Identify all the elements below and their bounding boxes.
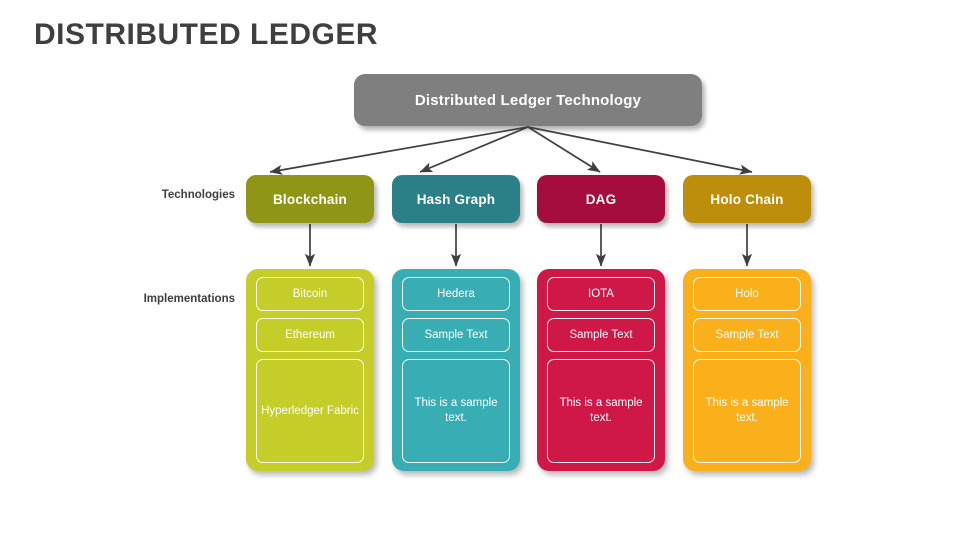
root-node-label: Distributed Ledger Technology	[415, 92, 641, 109]
fan-arrow	[420, 127, 528, 172]
impl-item[interactable]: Sample Text	[547, 318, 655, 352]
fan-arrow	[528, 127, 752, 172]
impl-panel-hash-graph: HederaSample TextThis is a sample text.	[392, 269, 520, 471]
tech-box-holo-chain[interactable]: Holo Chain	[683, 175, 811, 223]
impl-item[interactable]: Hedera	[402, 277, 510, 311]
impl-item[interactable]: This is a sample text.	[693, 359, 801, 463]
impl-panel-blockchain: BitcoinEthereumHyperledger Fabric	[246, 269, 374, 471]
tech-box-dag[interactable]: DAG	[537, 175, 665, 223]
impl-panel-dag: IOTASample TextThis is a sample text.	[537, 269, 665, 471]
row-label-technologies: Technologies	[65, 189, 235, 201]
impl-item[interactable]: Ethereum	[256, 318, 364, 352]
impl-item[interactable]: IOTA	[547, 277, 655, 311]
tech-box-hash-graph[interactable]: Hash Graph	[392, 175, 520, 223]
impl-item[interactable]: Sample Text	[693, 318, 801, 352]
impl-item[interactable]: Sample Text	[402, 318, 510, 352]
impl-item[interactable]: Holo	[693, 277, 801, 311]
fan-out-arrows	[270, 127, 752, 172]
root-node-distributed-ledger-technology[interactable]: Distributed Ledger Technology	[354, 74, 702, 126]
impl-panel-holo-chain: HoloSample TextThis is a sample text.	[683, 269, 811, 471]
slide-canvas: DISTRIBUTED LEDGER Technologies Implemen…	[0, 0, 960, 540]
impl-item[interactable]: Hyperledger Fabric	[256, 359, 364, 463]
tech-box-label: Holo Chain	[710, 192, 783, 207]
page-title: DISTRIBUTED LEDGER	[34, 18, 378, 52]
row-label-implementations: Implementations	[55, 293, 235, 305]
impl-item[interactable]: This is a sample text.	[547, 359, 655, 463]
tech-box-label: Hash Graph	[417, 192, 496, 207]
fan-arrow	[528, 127, 600, 172]
impl-item[interactable]: This is a sample text.	[402, 359, 510, 463]
fan-arrow	[270, 127, 528, 172]
tech-box-blockchain[interactable]: Blockchain	[246, 175, 374, 223]
vertical-arrows	[310, 224, 747, 266]
tech-box-label: DAG	[586, 192, 617, 207]
impl-item[interactable]: Bitcoin	[256, 277, 364, 311]
tech-box-label: Blockchain	[273, 192, 347, 207]
